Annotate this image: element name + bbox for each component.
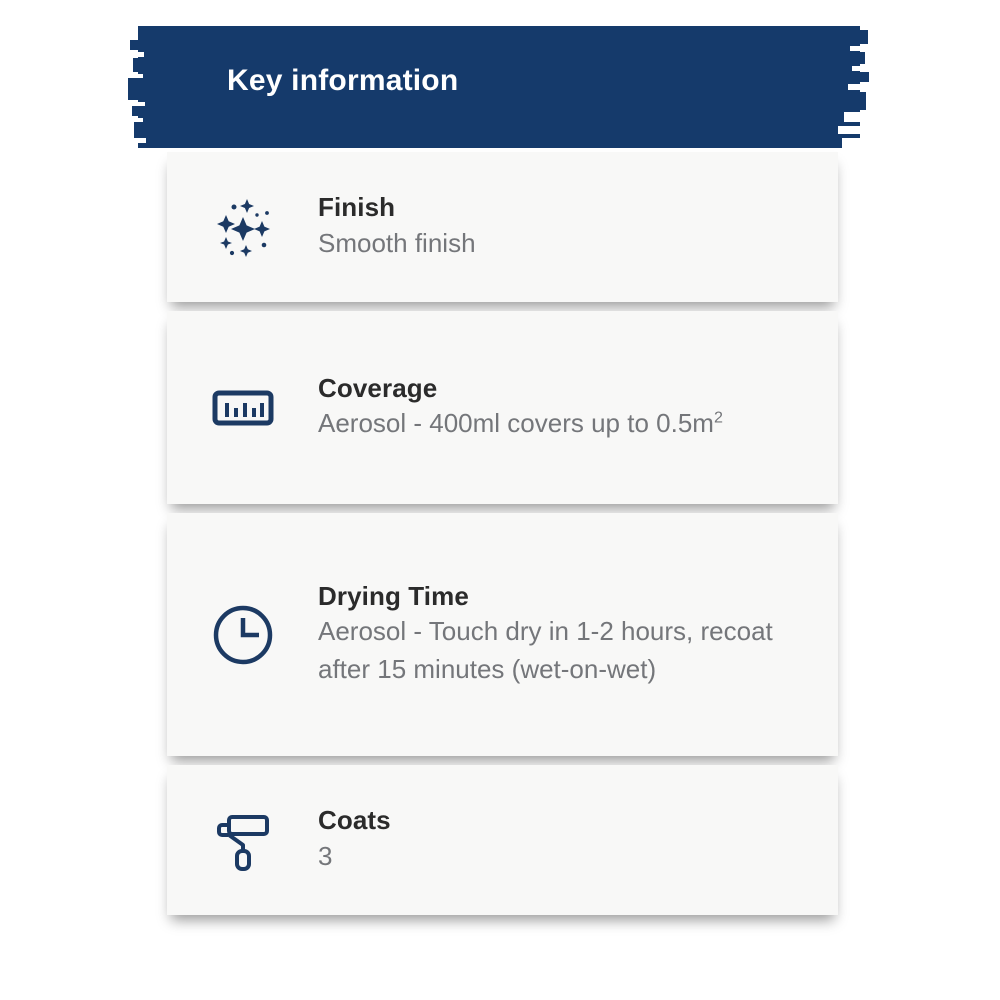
list-item-value: Aerosol - 400ml covers up to 0.5m2 <box>318 405 723 443</box>
list-item-text: Finish Smooth finish <box>318 189 500 265</box>
banner-edge-nib <box>132 106 140 116</box>
list-item-value: 3 <box>318 838 391 876</box>
banner-edge-notch <box>138 52 144 57</box>
list-item-value-text: 3 <box>318 841 332 871</box>
banner-edge-notch <box>138 118 143 122</box>
list-item-text: Coats 3 <box>318 802 415 878</box>
banner-edge-nib <box>860 52 865 64</box>
banner-edge-nib <box>130 40 140 50</box>
banner-edge-notch <box>138 102 145 106</box>
list-item-value: Aerosol - Touch dry in 1-2 hours, recoat… <box>318 613 788 689</box>
list-item-text: Coverage Aerosol - 400ml covers up to 0.… <box>318 370 747 446</box>
key-information-panel: Key information <box>0 0 1000 1000</box>
list-item-title: Coats <box>318 804 391 838</box>
list-item-text: Drying Time Aerosol - Touch dry in 1-2 h… <box>318 578 812 692</box>
banner-edge-nib <box>860 92 866 110</box>
list-item: Coats 3 <box>167 765 838 915</box>
banner-edge-notch <box>852 66 860 71</box>
banner-edge-notch <box>842 138 860 148</box>
list-item-title: Drying Time <box>318 580 788 614</box>
clock-icon <box>167 602 318 668</box>
list-item-value-text: Smooth finish <box>318 228 476 258</box>
list-item-title: Finish <box>318 191 476 225</box>
banner-edge-notch <box>838 126 860 134</box>
banner-edge-nib <box>133 58 140 72</box>
banner-edge-nib <box>860 72 869 82</box>
paint-roller-icon <box>167 807 318 873</box>
list-item-title: Coverage <box>318 372 723 406</box>
banner-edge-nib <box>860 30 868 44</box>
list-item: Finish Smooth finish <box>167 152 838 302</box>
sparkle-cluster-icon <box>167 191 318 263</box>
banner-edge-nib <box>128 78 140 100</box>
banner-edge-nib <box>134 122 140 138</box>
banner-edge-notch <box>138 138 146 143</box>
banner-edge-notch <box>138 74 143 78</box>
banner-edge-notch <box>850 46 860 51</box>
banner-edge-notch <box>848 84 860 90</box>
key-information-list: Finish Smooth finish Cov <box>167 152 838 915</box>
list-item-value-superscript: 2 <box>714 409 723 427</box>
ruler-icon <box>167 387 318 429</box>
list-item: Coverage Aerosol - 400ml covers up to 0.… <box>167 311 838 504</box>
list-item-value-text: Aerosol - Touch dry in 1-2 hours, recoat… <box>318 616 773 684</box>
list-item-value-text: Aerosol - 400ml covers up to 0.5m <box>318 408 714 438</box>
key-information-header: Key information <box>128 22 870 152</box>
list-item-value: Smooth finish <box>318 225 476 263</box>
banner-edge-notch <box>844 112 860 122</box>
list-item: Drying Time Aerosol - Touch dry in 1-2 h… <box>167 513 838 756</box>
panel-title: Key information <box>227 64 458 98</box>
